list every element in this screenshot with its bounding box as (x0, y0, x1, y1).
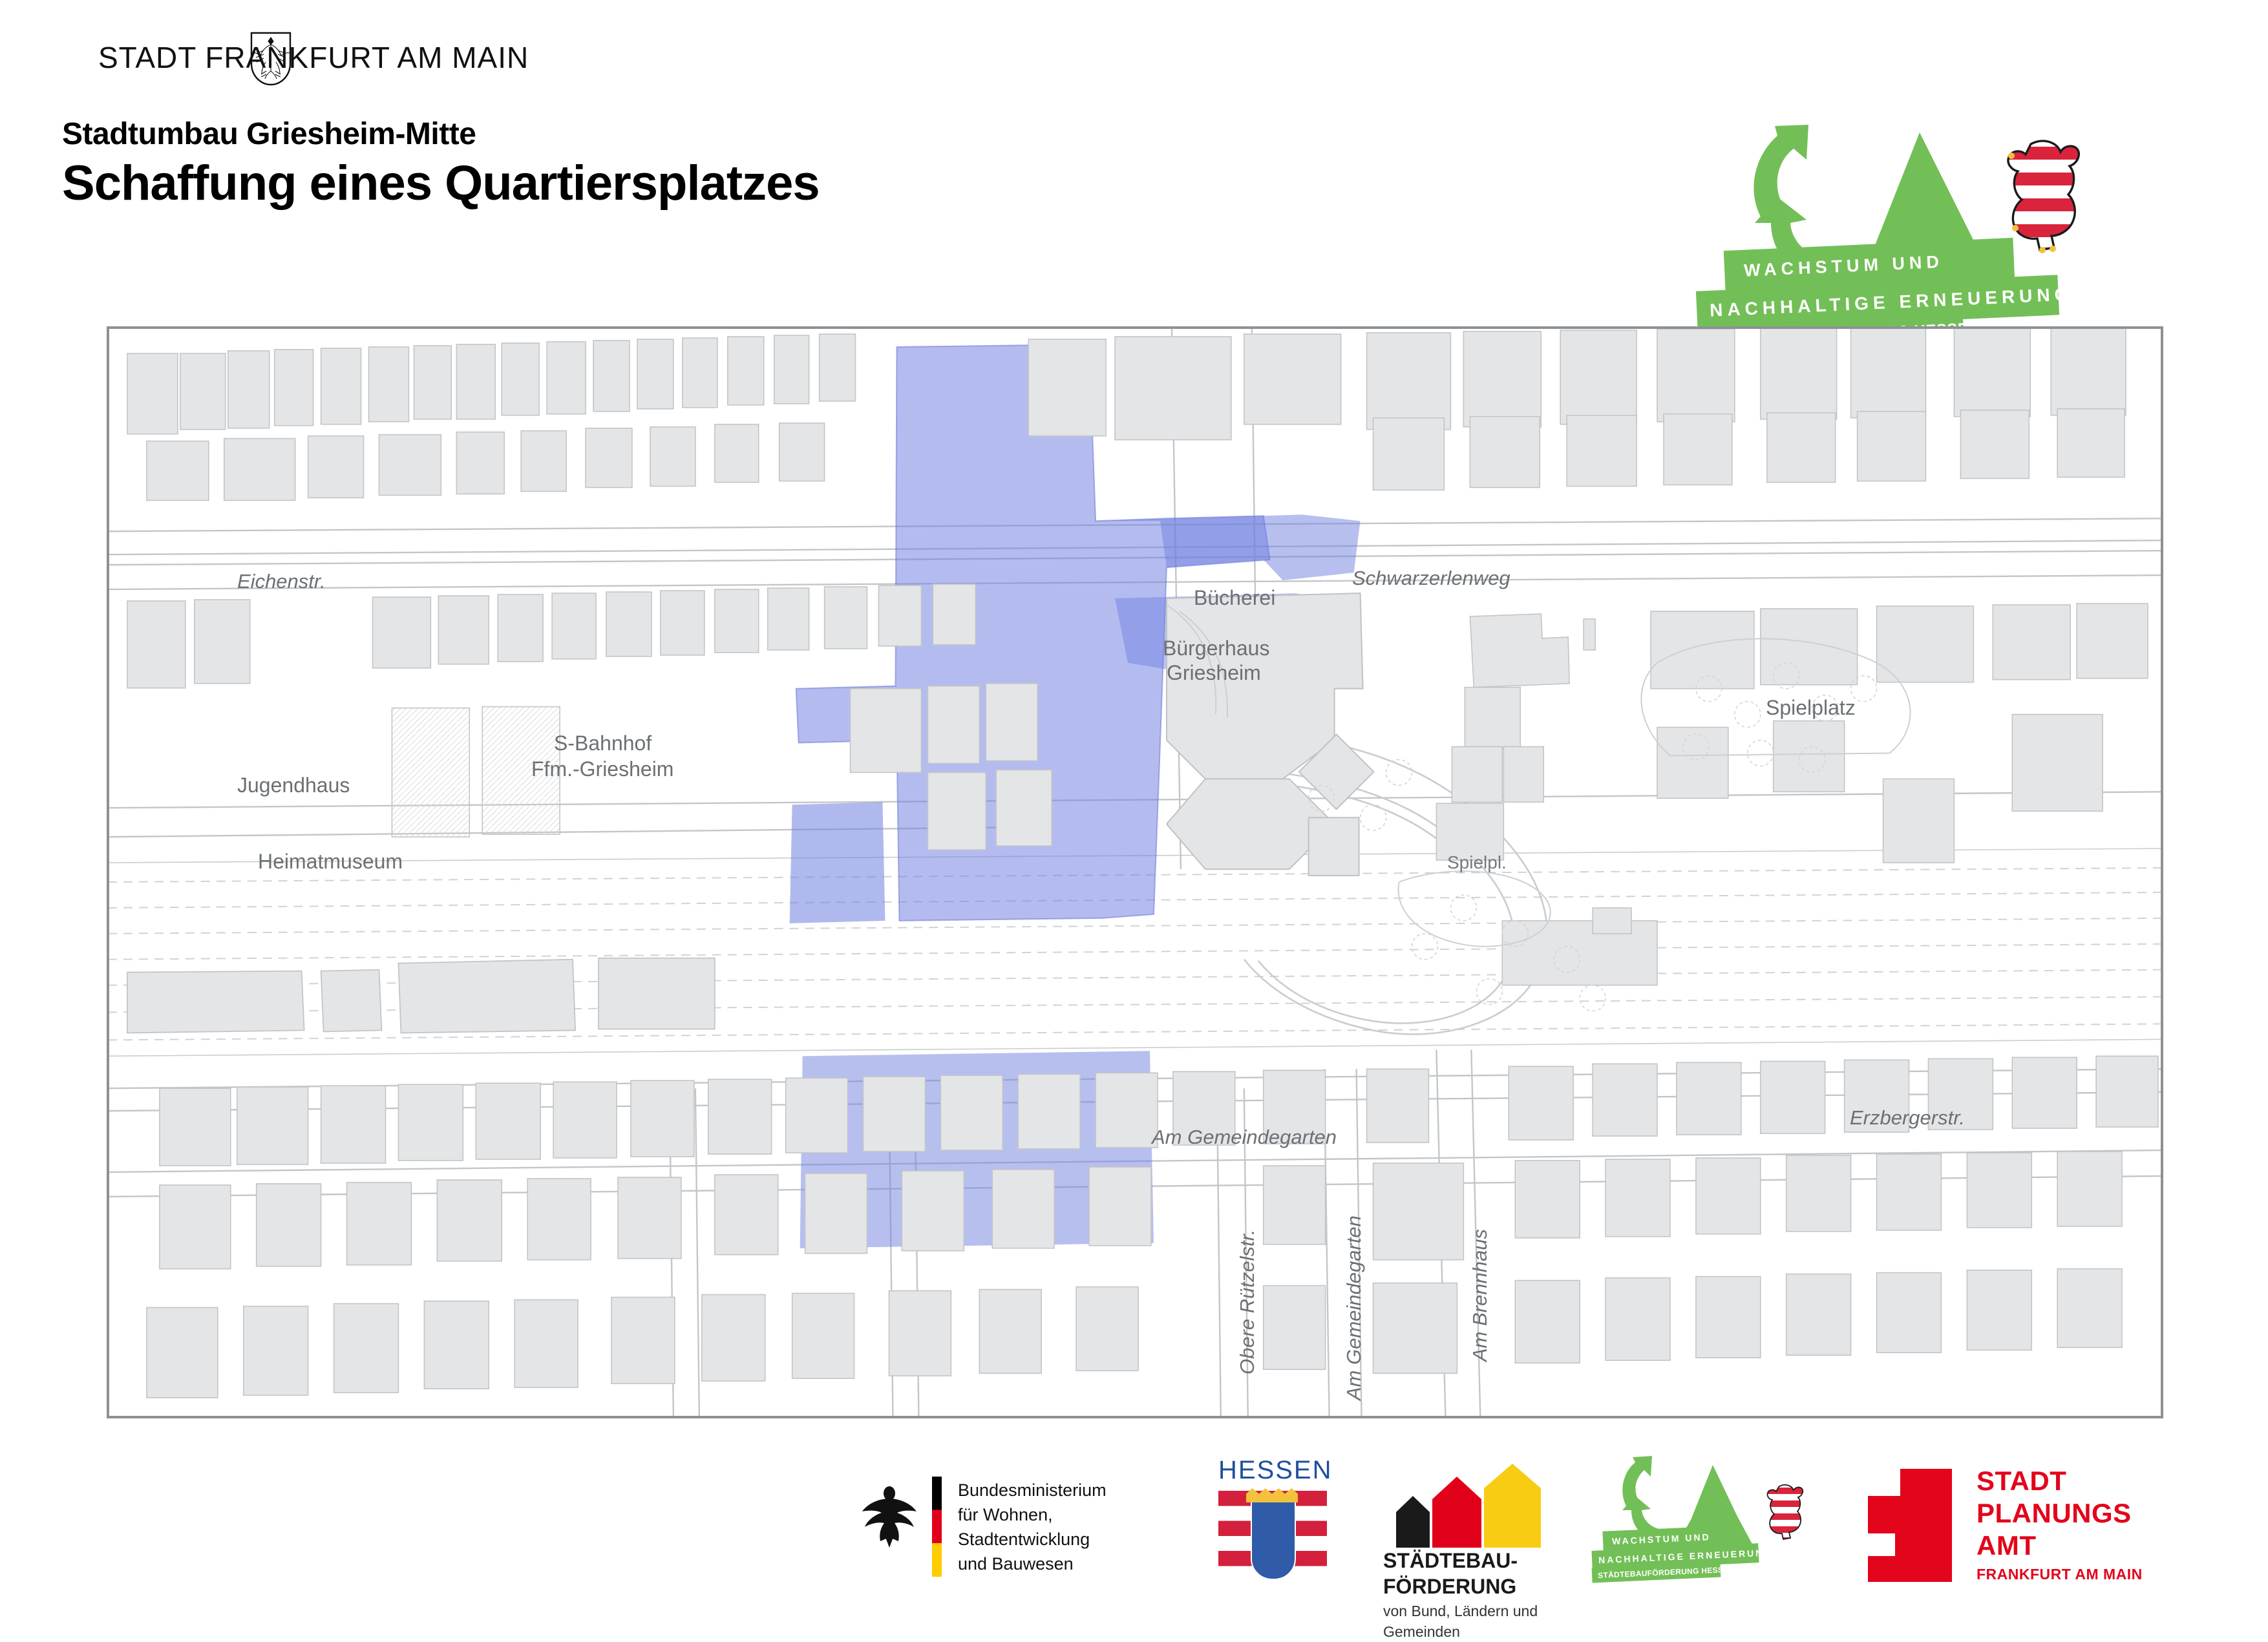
hessen-shield-icon (1251, 1495, 1296, 1580)
street-label-am-gemeindegarten-v: Am Gemeindegarten (1342, 1216, 1366, 1400)
stadtplanungsamt-logo: STADT PLANUNGS AMT FRANKFURT AM MAIN (1868, 1451, 2204, 1603)
hessen-label: HESSEN (1218, 1456, 1333, 1485)
staedtebau-line2: FÖRDERUNG (1383, 1574, 1518, 1599)
street-label-am-gemeindegarten-h: Am Gemeindegarten (1152, 1126, 1337, 1149)
wne-footer-logo: WACHSTUM UND NACHHALTIGE ERNEUERUNG STÄD… (1590, 1451, 1829, 1603)
stadtplanungsamt-mark-icon (1868, 1469, 1952, 1582)
bund-line1: Bundesministerium (958, 1478, 1183, 1502)
poi-label-spielpl: Spielpl. (1447, 852, 1507, 873)
german-flag-bar-icon (932, 1477, 942, 1577)
staedtebaufoerderung-logo: STÄDTEBAU- FÖRDERUNG von Bund, Ländern u… (1383, 1451, 1596, 1603)
bund-line2: für Wohnen, Stadtentwicklung (958, 1502, 1183, 1552)
staedtebau-line1: STÄDTEBAU- (1383, 1548, 1518, 1574)
poi-label-spielplatz: Spielplatz (1766, 696, 1856, 720)
street-label-erzbergerstr: Erzbergerstr. (1850, 1106, 1965, 1130)
cadastral-map[interactable]: Eichenstr. Schwarzerlenweg Erzbergerstr.… (107, 326, 2163, 1418)
staedtebau-title: STÄDTEBAU- FÖRDERUNG (1383, 1548, 1518, 1599)
street-label-schwarzerlenweg: Schwarzerlenweg (1352, 567, 1510, 590)
three-houses-icon (1390, 1464, 1551, 1548)
map-vector-layer (108, 328, 2162, 1417)
street-label-obere-ruetzelstr: Obere Rützelstr. (1236, 1229, 1259, 1374)
hessen-logo: HESSEN (1215, 1451, 1331, 1603)
poi-label-s-bahnhof: S-Bahnhof (554, 732, 652, 755)
poi-label-heimatmuseum: Heimatmuseum (258, 850, 403, 874)
city-logo: STADT FRANKFURT AM MAIN (98, 34, 512, 85)
staedtebau-sub2: Gemeinden (1383, 1621, 1538, 1642)
street-label-am-brennhaus: Am Brennhaus (1468, 1229, 1492, 1362)
poi-label-jugendhaus: Jugendhaus (237, 774, 350, 797)
spa-subtitle: FRANKFURT AM MAIN (1977, 1566, 2143, 1583)
page-title: Schaffung eines Quartiersplatzes (62, 155, 820, 211)
staedtebau-sub: von Bund, Ländern und Gemeinden (1383, 1601, 1538, 1642)
spa-line2: PLANUNGS (1977, 1497, 2132, 1530)
spa-line3: AMT (1977, 1530, 2132, 1562)
city-logo-wordmark: STADT FRANKFURT AM MAIN (98, 40, 529, 75)
poi-label-buecherei: Bücherei (1194, 586, 1275, 610)
bundesadler-icon (860, 1478, 919, 1549)
spa-line1: STADT (1977, 1465, 2132, 1497)
street-label-eichenstr: Eichenstr. (237, 570, 326, 593)
bundesministerium-text: Bundesministerium für Wohnen, Stadtentwi… (958, 1478, 1183, 1576)
page-subtitle: Stadtumbau Griesheim-Mitte (62, 116, 476, 152)
poi-label-ffm-griesheim: Ffm.-Griesheim (531, 757, 673, 781)
spa-title: STADT PLANUNGS AMT (1977, 1465, 2132, 1562)
staedtebau-sub1: von Bund, Ländern und (1383, 1601, 1538, 1621)
bundesministerium-logo: Bundesministerium für Wohnen, Stadtentwi… (860, 1451, 1183, 1603)
poi-label-griesheim: Griesheim (1167, 661, 1261, 685)
bund-line3: und Bauwesen (958, 1552, 1183, 1576)
poi-label-buergerhaus: Bürgerhaus (1163, 637, 1269, 660)
footer-logo-bar: Bundesministerium für Wohnen, Stadtentwi… (0, 1451, 2268, 1603)
